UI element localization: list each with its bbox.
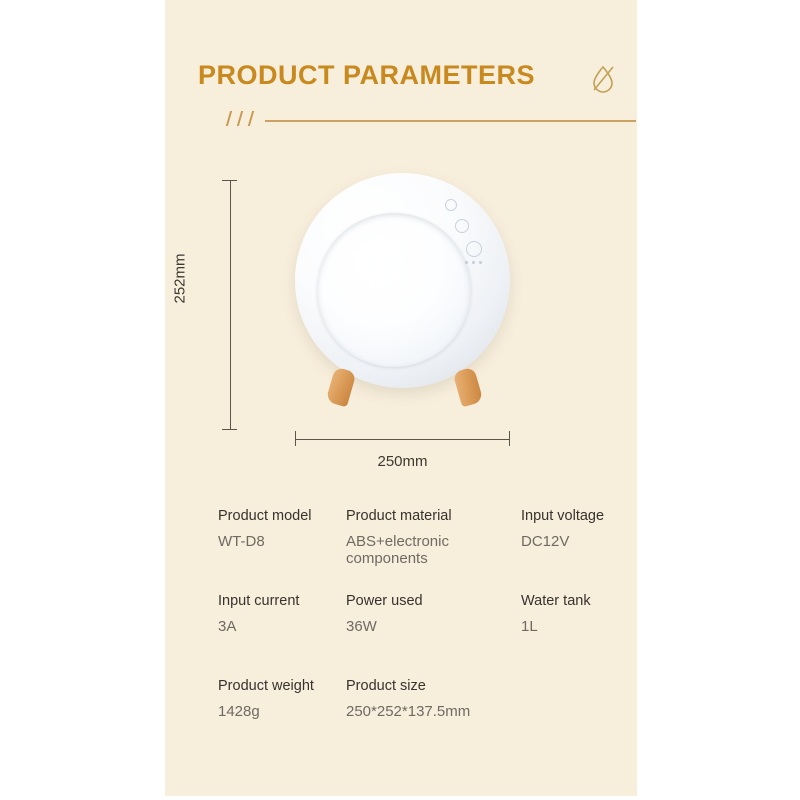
- spec-cell-water-tank: Water tank 1L: [521, 593, 651, 635]
- table-row: Product model WT-D8 Product material ABS…: [218, 508, 618, 593]
- spec-value: ABS+electronic components: [346, 533, 521, 567]
- divider-slash-1: [226, 111, 232, 126]
- spec-label: Product size: [346, 678, 521, 695]
- spec-label: Power used: [346, 593, 521, 610]
- water-drop-slash-icon: [588, 63, 618, 95]
- vertical-dimension-cap-bottom: [222, 429, 237, 430]
- device-front-panel: [317, 213, 471, 367]
- title-divider: [228, 111, 636, 129]
- vertical-dimension-bar: [230, 180, 231, 430]
- spec-label: Product weight: [218, 678, 346, 695]
- device-foot-left: [325, 367, 356, 408]
- device-body: [295, 173, 510, 388]
- product-illustration: [290, 173, 520, 423]
- spec-value: 250*252*137.5mm: [346, 703, 521, 720]
- spec-label: Input current: [218, 593, 346, 610]
- spec-cell-product-size: Product size 250*252*137.5mm: [346, 678, 521, 720]
- spec-value: DC12V: [521, 533, 651, 550]
- spec-label: Product material: [346, 508, 521, 525]
- spec-cell-input-current: Input current 3A: [218, 593, 346, 635]
- spec-value: 36W: [346, 618, 521, 635]
- vertical-dimension-line: [221, 180, 239, 430]
- device-foot-right: [452, 367, 483, 408]
- spec-cell-power-used: Power used 36W: [346, 593, 521, 635]
- specification-table: Product model WT-D8 Product material ABS…: [218, 508, 618, 763]
- spec-label: Product model: [218, 508, 346, 525]
- spec-cell-input-voltage: Input voltage DC12V: [521, 508, 651, 550]
- spec-value: 1L: [521, 618, 651, 635]
- device-button-3: [466, 241, 482, 257]
- horizontal-dimension-cap-right: [509, 431, 510, 446]
- device-button-2: [455, 219, 469, 233]
- device-button-1: [445, 199, 457, 211]
- spec-value: 1428g: [218, 703, 346, 720]
- spec-value: 3A: [218, 618, 346, 635]
- table-row: Input current 3A Power used 36W Water ta…: [218, 593, 618, 678]
- spec-label: Water tank: [521, 593, 651, 610]
- page-title: PRODUCT PARAMETERS: [198, 60, 535, 91]
- horizontal-dimension-label: 250mm: [295, 453, 510, 470]
- divider-line: [265, 120, 636, 122]
- spec-label: Input voltage: [521, 508, 651, 525]
- table-row: Product weight 1428g Product size 250*25…: [218, 678, 618, 763]
- horizontal-dimension-bar: [295, 439, 510, 440]
- divider-slash-3: [248, 111, 254, 126]
- vertical-dimension-label: 252mm: [172, 229, 189, 329]
- product-parameters-panel: PRODUCT PARAMETERS 252mm: [165, 0, 637, 796]
- spec-cell-product-material: Product material ABS+electronic componen…: [346, 508, 521, 567]
- device-indicator-dots: [465, 261, 483, 265]
- panel-header: PRODUCT PARAMETERS: [198, 60, 608, 150]
- spec-cell-product-weight: Product weight 1428g: [218, 678, 346, 720]
- product-figure: 252mm 250mm: [165, 165, 637, 485]
- divider-slash-2: [237, 111, 243, 126]
- horizontal-dimension-line: [295, 430, 510, 448]
- spec-value: WT-D8: [218, 533, 346, 550]
- spec-cell-product-model: Product model WT-D8: [218, 508, 346, 550]
